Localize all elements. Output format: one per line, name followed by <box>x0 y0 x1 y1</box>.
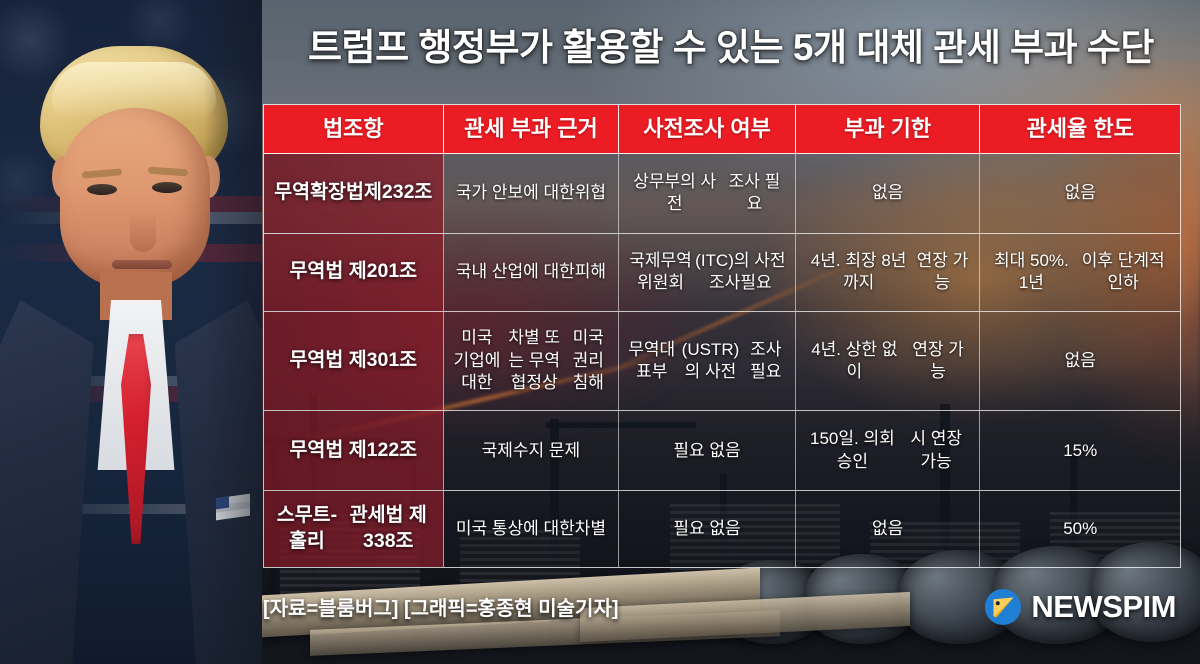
column-header-law-article: 법조항 <box>264 105 444 153</box>
newspim-bird-icon <box>984 588 1022 626</box>
cell-tariff-basis: 미국 기업에 대한차별 또는 무역협정상미국 권리 침해 <box>444 312 620 411</box>
cell-rate-cap: 15% <box>980 411 1180 490</box>
cell-tariff-basis: 국제수지 문제 <box>444 411 620 490</box>
cell-duration: 4년. 상한 없이연장 가능 <box>796 312 981 411</box>
cell-law-article: 무역법 제122조 <box>264 411 444 490</box>
table-row: 무역법 제301조 미국 기업에 대한차별 또는 무역협정상미국 권리 침해 무… <box>264 312 1180 412</box>
newspim-wordmark: NEWSPIM <box>1031 589 1176 625</box>
cell-investigation: 국제무역위원회(ITC)의 사전조사필요 <box>619 234 796 311</box>
column-header-investigation: 사전조사 여부 <box>619 105 796 153</box>
portrait-face <box>60 108 210 288</box>
source-credit: [자료=블룸버그] [그래픽=홍종현 미술기자] <box>263 592 619 621</box>
cell-law-article: 스무트-홀리관세법 제338조 <box>264 491 444 567</box>
column-header-rate-cap: 관세율 한도 <box>980 105 1180 153</box>
page-title: 트럼프 행정부가 활용할 수 있는 5개 대체 관세 부과 수단 <box>262 28 1200 69</box>
column-header-tariff-basis: 관세 부과 근거 <box>444 105 620 153</box>
cell-rate-cap: 최대 50%. 1년이후 단계적 인하 <box>980 234 1180 311</box>
cell-law-article: 무역법 제201조 <box>264 234 444 311</box>
cell-tariff-basis: 국가 안보에 대한위협 <box>444 154 620 233</box>
table-header-row: 법조항 관세 부과 근거 사전조사 여부 부과 기한 관세율 한도 <box>264 105 1180 154</box>
cell-tariff-basis: 국내 산업에 대한피해 <box>444 234 620 311</box>
cell-investigation: 필요 없음 <box>619 411 796 490</box>
cell-law-article: 무역확장법제232조 <box>264 154 444 233</box>
cell-duration: 없음 <box>796 154 981 233</box>
table-row: 무역법 제122조 국제수지 문제 필요 없음 150일. 의회 승인시 연장 … <box>264 411 1180 491</box>
cell-investigation: 무역대표부(USTR)의 사전조사 필요 <box>619 312 796 411</box>
cell-investigation: 상무부의 사전조사 필요 <box>619 154 796 233</box>
cell-duration: 4년. 최장 8년까지연장 가능 <box>796 234 981 311</box>
cell-duration: 없음 <box>796 491 981 567</box>
cell-tariff-basis: 미국 통상에 대한차별 <box>444 491 620 567</box>
trump-portrait <box>0 0 262 664</box>
table-row: 무역확장법제232조 국가 안보에 대한위협 상무부의 사전조사 필요 없음 없… <box>264 154 1180 234</box>
cell-rate-cap: 없음 <box>980 312 1180 411</box>
column-header-duration: 부과 기한 <box>796 105 981 153</box>
cell-rate-cap: 없음 <box>980 154 1180 233</box>
cell-law-article: 무역법 제301조 <box>264 312 444 411</box>
table-row: 스무트-홀리관세법 제338조 미국 통상에 대한차별 필요 없음 없음 50% <box>264 491 1180 567</box>
tariff-tools-table: 법조항 관세 부과 근거 사전조사 여부 부과 기한 관세율 한도 무역확장법제… <box>263 104 1181 568</box>
cell-investigation: 필요 없음 <box>619 491 796 567</box>
infographic-stage: 트럼프 행정부가 활용할 수 있는 5개 대체 관세 부과 수단 법조항 관세 … <box>0 0 1200 664</box>
table-row: 무역법 제201조 국내 산업에 대한피해 국제무역위원회(ITC)의 사전조사… <box>264 234 1180 312</box>
cell-rate-cap: 50% <box>980 491 1180 567</box>
newspim-logo: NEWSPIM <box>984 588 1176 626</box>
cell-duration: 150일. 의회 승인시 연장 가능 <box>796 411 981 490</box>
